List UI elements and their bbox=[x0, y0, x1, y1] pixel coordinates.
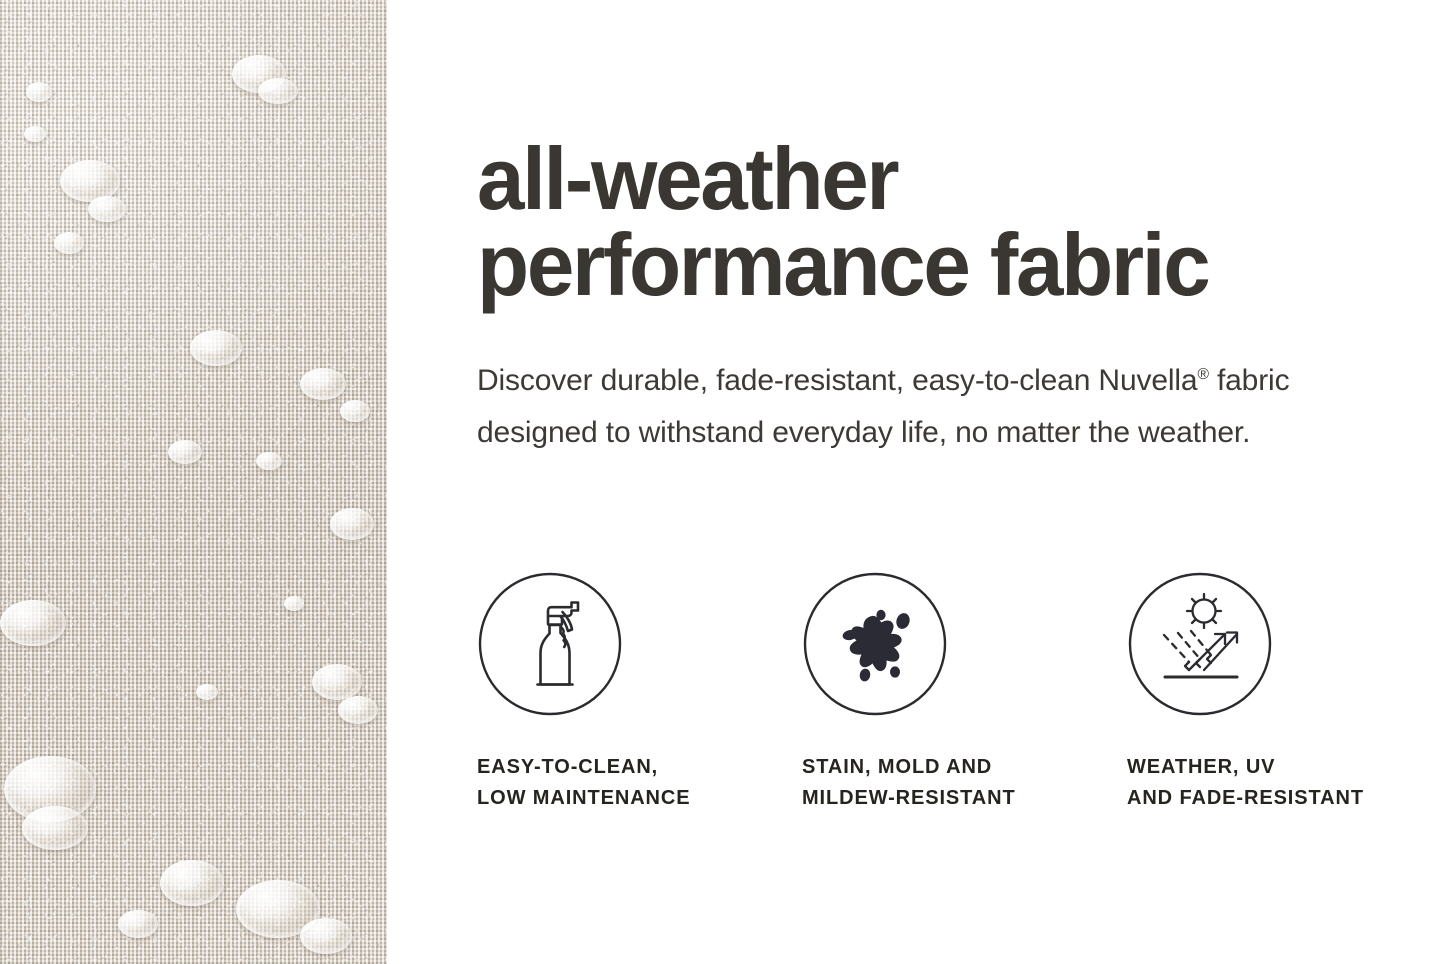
headline-line-2: performance fabric bbox=[477, 222, 1369, 308]
water-droplet bbox=[118, 910, 158, 938]
subcopy-part-1: Discover durable, fade-resistant, easy-t… bbox=[477, 364, 1197, 397]
page-title: all-weather performance fabric bbox=[477, 136, 1369, 308]
feature-stain-resistant: STAIN, MOLD AND MILDEW-RESISTANT bbox=[802, 571, 1127, 814]
feature-weather-uv-resistant: WEATHER, UV AND FADE-RESISTANT bbox=[1127, 571, 1417, 814]
water-droplet bbox=[312, 664, 362, 700]
feature-caption: STAIN, MOLD AND MILDEW-RESISTANT bbox=[802, 752, 1127, 814]
water-droplet bbox=[54, 232, 84, 254]
water-droplet bbox=[284, 596, 304, 611]
feature-caption: WEATHER, UV AND FADE-RESISTANT bbox=[1127, 752, 1417, 814]
water-droplet bbox=[0, 600, 66, 646]
water-droplet bbox=[300, 368, 346, 400]
sun-uv-reflect-icon bbox=[1127, 571, 1273, 717]
water-droplet bbox=[340, 400, 370, 422]
feature-easy-to-clean: EASY-TO-CLEAN, LOW MAINTENANCE bbox=[477, 571, 802, 814]
registered-trademark-symbol: ® bbox=[1197, 366, 1208, 383]
stain-splat-icon bbox=[802, 571, 948, 717]
water-droplet bbox=[24, 126, 46, 142]
feature-list: EASY-TO-CLEAN, LOW MAINTENANCE STAIN, MO… bbox=[477, 571, 1417, 814]
water-droplet bbox=[160, 860, 224, 906]
water-droplet bbox=[88, 196, 126, 222]
water-droplet bbox=[330, 508, 374, 540]
content-column: all-weather performance fabric Discover … bbox=[477, 0, 1445, 964]
feature-caption: EASY-TO-CLEAN, LOW MAINTENANCE bbox=[477, 752, 802, 814]
water-droplet bbox=[196, 684, 218, 700]
subcopy-paragraph: Discover durable, fade-resistant, easy-t… bbox=[477, 355, 1357, 459]
water-droplet bbox=[256, 452, 282, 470]
water-droplet bbox=[22, 806, 88, 850]
water-droplet bbox=[258, 78, 298, 104]
water-droplet bbox=[190, 330, 242, 366]
fabric-water-beading-photo bbox=[0, 0, 387, 964]
spray-bottle-icon bbox=[477, 571, 623, 717]
all-weather-fabric-banner: all-weather performance fabric Discover … bbox=[0, 0, 1445, 964]
water-droplet bbox=[338, 696, 378, 724]
headline-line-1: all-weather bbox=[477, 136, 1369, 222]
water-droplet bbox=[300, 918, 352, 954]
water-droplet bbox=[26, 82, 52, 102]
water-droplet bbox=[168, 440, 202, 464]
